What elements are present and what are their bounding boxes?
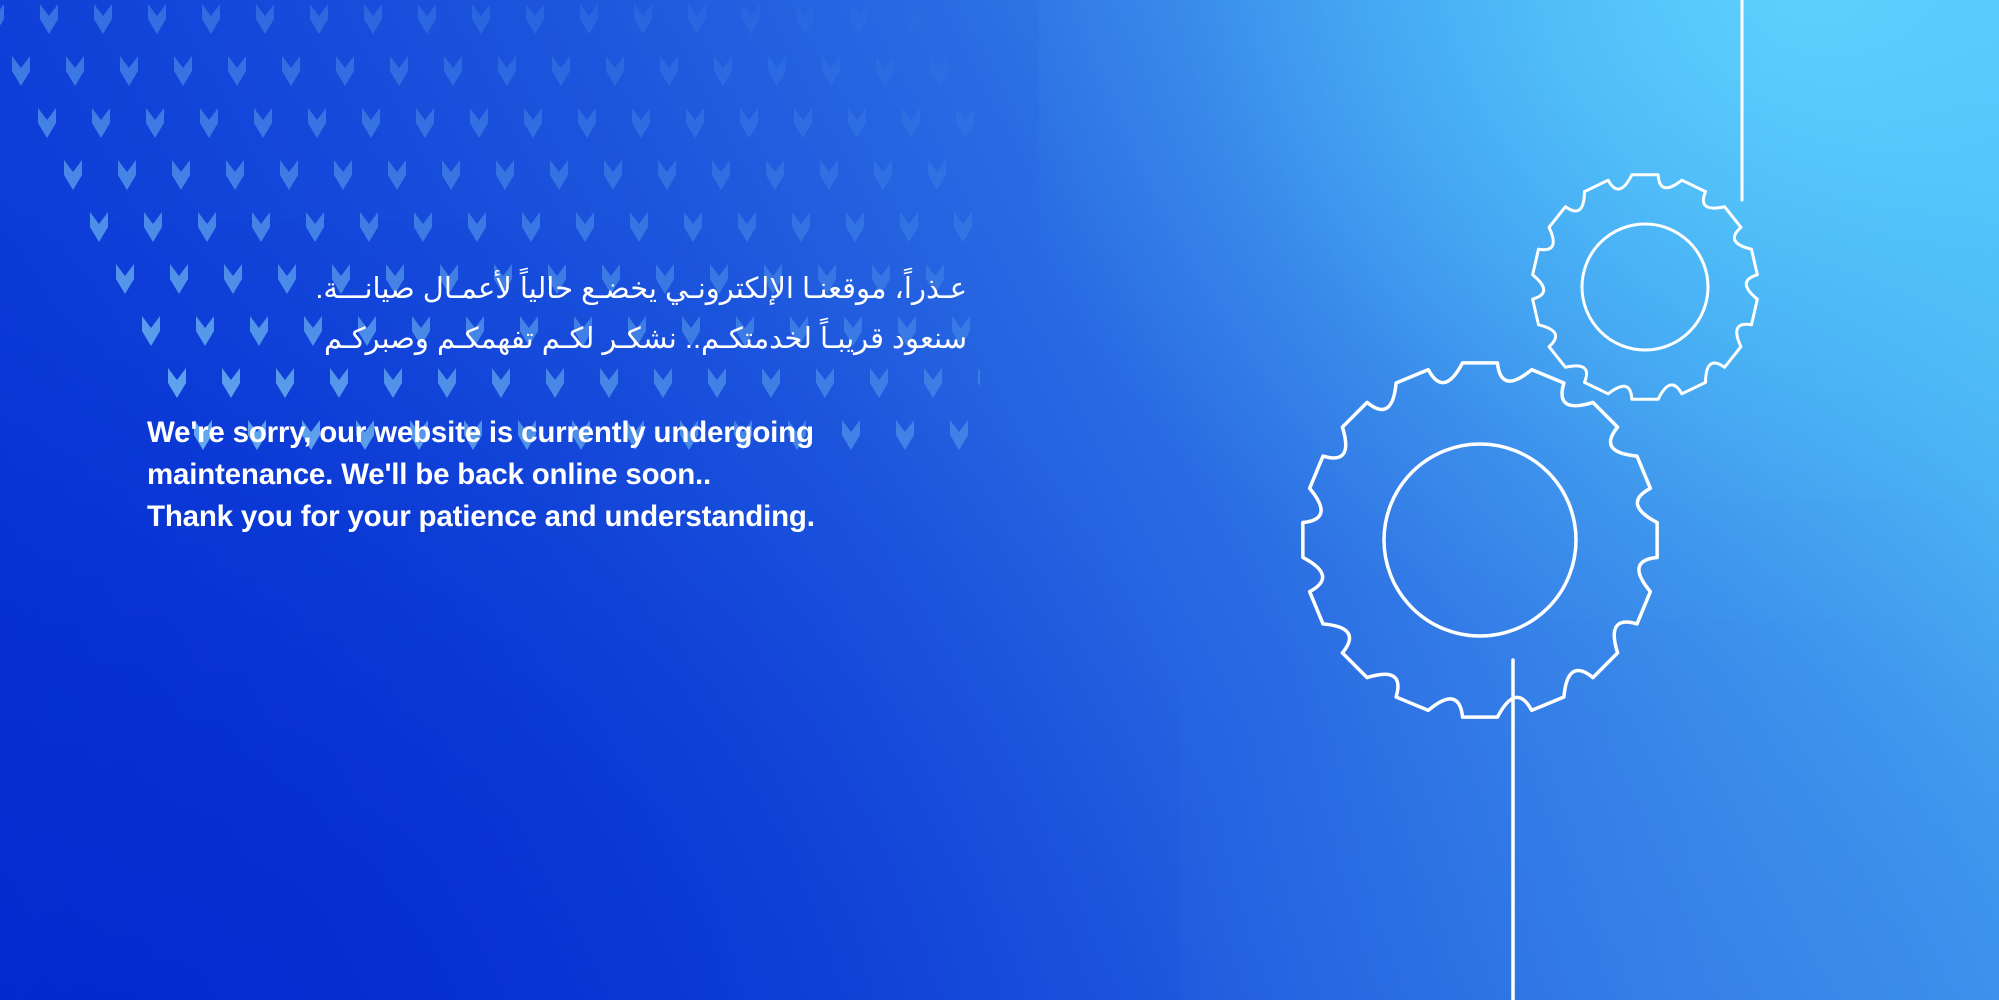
english-message-line-1: We're sorry, our website is currently un…	[147, 412, 967, 454]
english-message-line-3: Thank you for your patience and understa…	[147, 496, 967, 538]
arabic-message: عـذراً، موقعنـا الإلكترونـي يخضـع حالياً…	[147, 264, 967, 364]
english-message: We're sorry, our website is currently un…	[147, 412, 967, 538]
message-container: عـذراً، موقعنـا الإلكترونـي يخضـع حالياً…	[147, 264, 967, 538]
arabic-message-line-1: عـذراً، موقعنـا الإلكترونـي يخضـع حالياً…	[147, 264, 967, 314]
maintenance-page: عـذراً، موقعنـا الإلكترونـي يخضـع حالياً…	[0, 0, 1999, 1000]
arabic-message-line-2: سنعود قريبـاً لخدمتكـم.. نشكـر لكـم تفهم…	[147, 314, 967, 364]
english-message-line-2: maintenance. We'll be back online soon..	[147, 454, 967, 496]
